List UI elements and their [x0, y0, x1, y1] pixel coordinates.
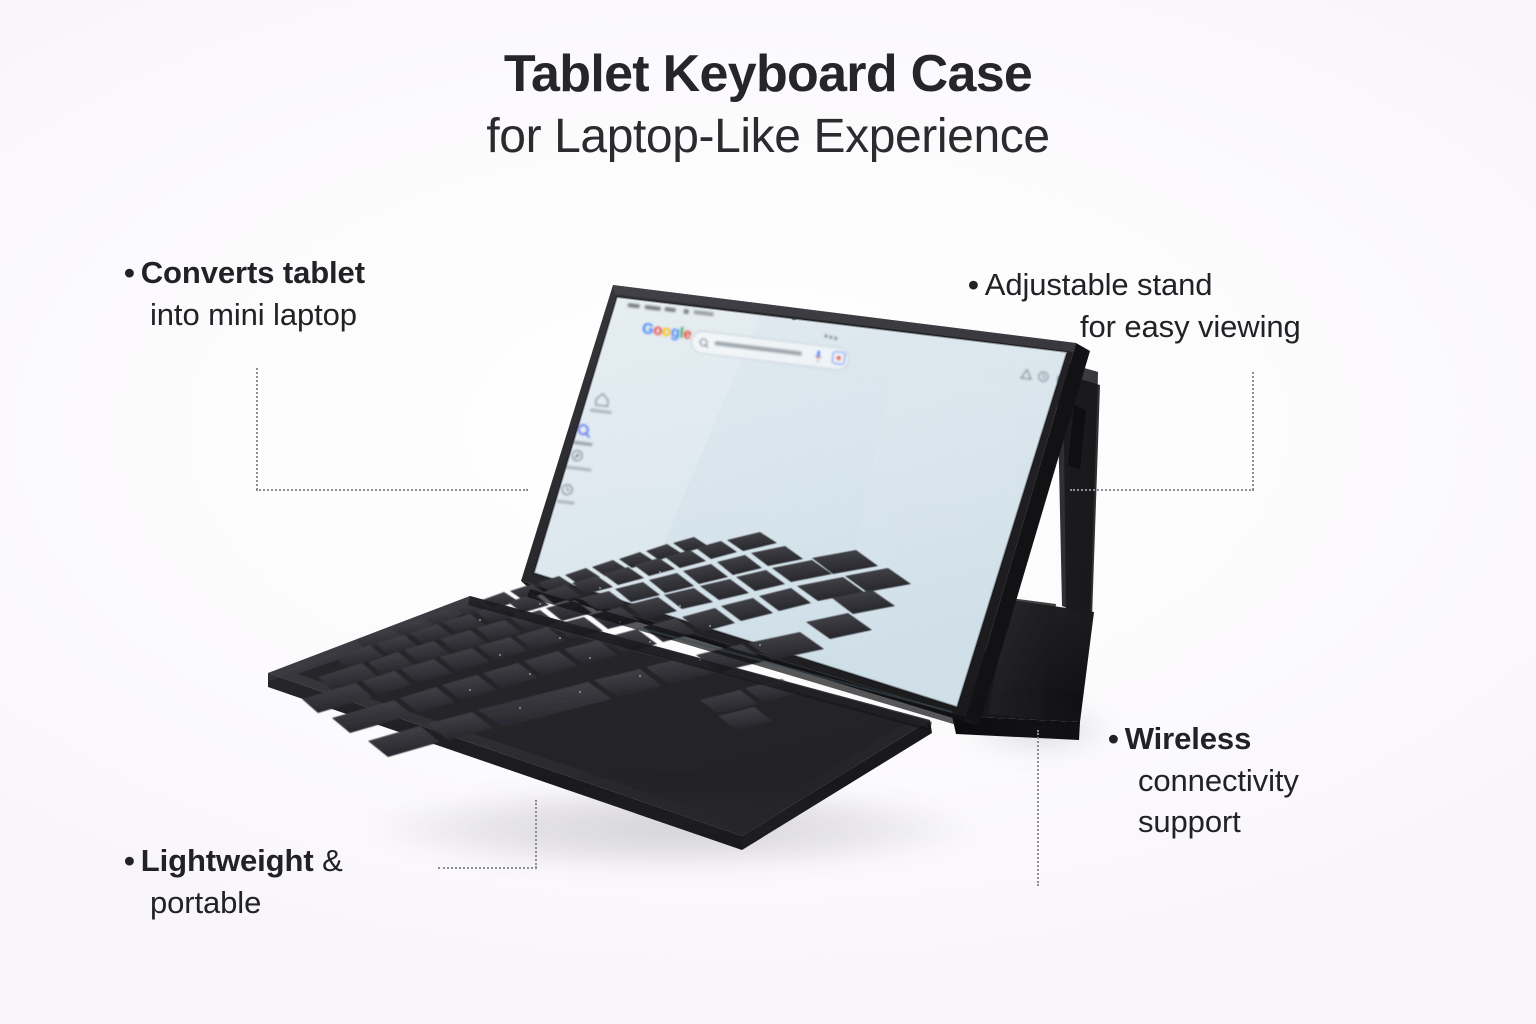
feature-adjustable-stand: •Adjustable stand for easy viewing: [968, 264, 1301, 347]
keyboard: [268, 532, 932, 850]
poster-canvas: Google: [0, 0, 1536, 1024]
feature-lightweight-suffix: &: [314, 843, 343, 878]
feature-wireless-line-3: support: [1108, 801, 1299, 843]
bullet-icon: •: [124, 843, 135, 878]
feature-lightweight: •Lightweight & portable: [124, 840, 343, 923]
heading-block: Tablet Keyboard Case for Laptop-Like Exp…: [0, 46, 1536, 167]
bullet-icon: •: [1108, 721, 1119, 756]
tablet-device: Google: [520, 280, 1090, 730]
google-logo: Google: [641, 320, 692, 343]
feature-stand-line-1: •Adjustable stand: [968, 264, 1301, 306]
tablet-screen: Google: [520, 280, 1090, 730]
connector-converts-vertical: [256, 368, 258, 490]
screen-sidebar: [557, 392, 614, 504]
feature-wireless: •Wireless connectivity support: [1108, 718, 1299, 843]
connector-stand-vertical: [1252, 372, 1254, 490]
feature-lightweight-line-2: portable: [124, 882, 343, 924]
connector-lightweight-vertical: [535, 800, 537, 868]
feature-converts-line-2: into mini laptop: [124, 294, 365, 336]
feature-lightweight-line-1: •Lightweight &: [124, 840, 343, 882]
feature-wireless-line-2: connectivity: [1108, 760, 1299, 802]
three-dot-menu-icon: [824, 334, 837, 340]
connector-wireless-vertical: [1037, 730, 1039, 886]
search-bar: [690, 330, 850, 371]
feature-wireless-text-1: Wireless: [1125, 721, 1251, 756]
connector-converts-horizontal: [256, 489, 528, 491]
connector-lightweight-horizontal: [438, 867, 537, 869]
device-shadow: [258, 768, 1088, 888]
page-title: Tablet Keyboard Case: [0, 46, 1536, 102]
feature-stand-line-2: for easy viewing: [968, 306, 1301, 348]
case-kickstand: [952, 362, 1100, 740]
bullet-icon: •: [968, 267, 979, 302]
svg-text:Google: Google: [641, 320, 692, 343]
page-subtitle: for Laptop-Like Experience: [0, 108, 1536, 167]
feature-converts-tablet: •Converts tablet into mini laptop: [124, 252, 365, 335]
feature-stand-text-1: Adjustable stand: [985, 267, 1213, 302]
feature-converts-line-1: •Converts tablet: [124, 252, 365, 294]
bullet-icon: •: [124, 255, 135, 290]
screen-top-right-icons: [1021, 369, 1068, 384]
feature-converts-text-1: Converts tablet: [141, 255, 365, 290]
connector-stand-horizontal: [1070, 489, 1254, 491]
feature-lightweight-bold: Lightweight: [141, 843, 314, 878]
feature-wireless-line-1: •Wireless: [1108, 718, 1299, 760]
